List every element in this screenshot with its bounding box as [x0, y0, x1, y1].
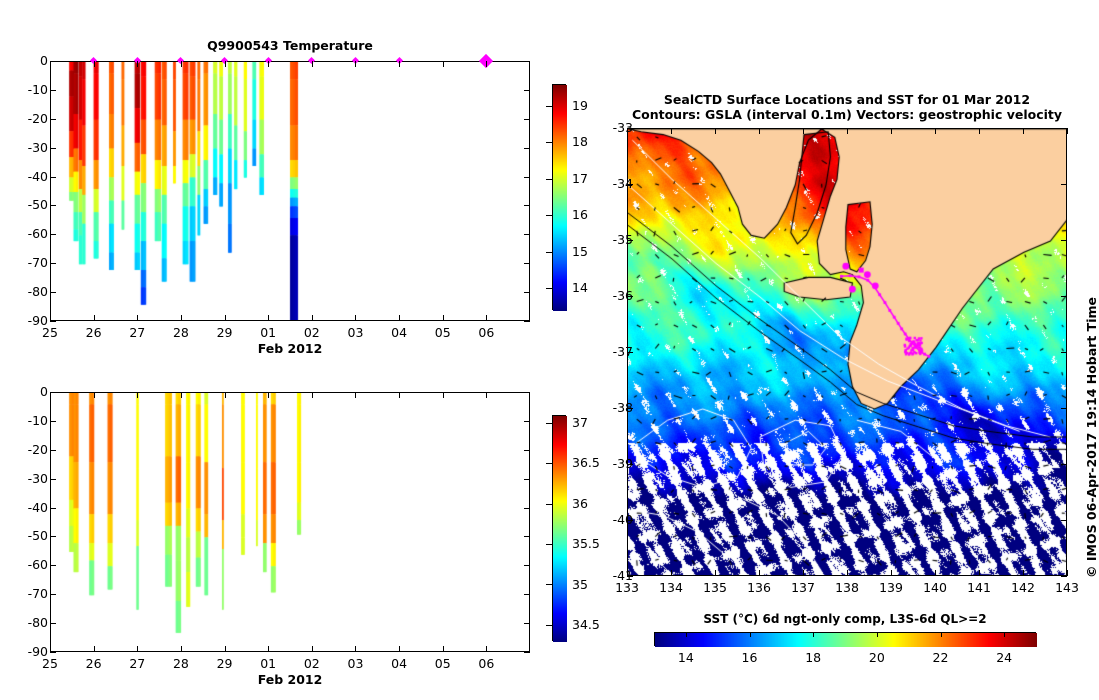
axis-tick-mark [877, 632, 878, 637]
axis-tick-mark [50, 450, 56, 451]
temperature-plot-frame [50, 61, 530, 321]
axis-tick-label: -80 [8, 284, 48, 299]
map-title-line1: SealCTD Surface Locations and SST for 01… [627, 92, 1067, 107]
axis-tick-label: -80 [8, 615, 48, 630]
axis-tick-mark [50, 205, 56, 206]
axis-tick-label: 25 [30, 325, 70, 340]
axis-tick-label: 26 [74, 325, 114, 340]
axis-tick-mark [225, 646, 226, 652]
axis-tick-label: 0 [8, 53, 48, 68]
axis-tick-label: 02 [292, 325, 332, 340]
axis-tick-label: 37 [572, 415, 612, 430]
axis-tick-mark [225, 315, 226, 321]
axis-tick-mark [486, 61, 487, 67]
axis-tick-label: 03 [335, 656, 375, 671]
axis-tick-label: -20 [8, 111, 48, 126]
axis-tick-mark [443, 315, 444, 321]
axis-tick-mark [715, 570, 716, 576]
axis-tick-mark [225, 61, 226, 67]
axis-tick-mark [399, 392, 400, 398]
axis-tick-label: 29 [205, 325, 245, 340]
axis-tick-mark [546, 463, 552, 464]
sst-colorbar-label: SST (°C) 6d ngt-only comp, L3S-6d QL>=2 [645, 612, 1045, 626]
axis-tick-label: 27 [117, 656, 157, 671]
axis-tick-label: -10 [8, 413, 48, 428]
axis-tick-mark [891, 570, 892, 576]
axis-tick-label: 143 [1047, 580, 1087, 595]
axis-tick-mark [50, 623, 56, 624]
temperature-colorbar [552, 84, 566, 310]
axis-tick-label: -20 [8, 442, 48, 457]
axis-tick-label: 04 [379, 656, 419, 671]
axis-tick-mark [1067, 128, 1068, 134]
axis-tick-label: 142 [1003, 580, 1043, 595]
axis-tick-mark [50, 392, 51, 398]
axis-tick-label: 141 [959, 580, 999, 595]
axis-tick-label: 16 [730, 650, 770, 665]
axis-tick-mark [813, 632, 814, 637]
axis-tick-label: 139 [871, 580, 911, 595]
axis-tick-label: 137 [783, 580, 823, 595]
axis-tick-label: -50 [8, 197, 48, 212]
axis-tick-mark [94, 646, 95, 652]
axis-tick-mark [312, 61, 313, 67]
axis-tick-mark [524, 148, 530, 149]
axis-tick-mark [268, 392, 269, 398]
axis-tick-mark [486, 392, 487, 398]
axis-tick-mark [546, 215, 552, 216]
axis-tick-mark [524, 565, 530, 566]
axis-tick-mark [546, 106, 552, 107]
axis-tick-mark [50, 292, 56, 293]
axis-tick-label: -10 [8, 82, 48, 97]
axis-tick-mark [671, 570, 672, 576]
axis-tick-mark [627, 576, 633, 577]
axis-tick-mark [524, 623, 530, 624]
axis-tick-mark [627, 296, 633, 297]
axis-tick-label: 138 [827, 580, 867, 595]
axis-tick-label: 140 [915, 580, 955, 595]
axis-tick-mark [1023, 570, 1024, 576]
axis-tick-label: 29 [205, 656, 245, 671]
axis-tick-mark [759, 570, 760, 576]
axis-tick-mark [627, 240, 633, 241]
axis-tick-mark [627, 128, 628, 134]
axis-tick-label: -60 [8, 226, 48, 241]
axis-tick-label: -60 [8, 557, 48, 572]
axis-tick-label: 14 [666, 650, 706, 665]
axis-tick-mark [979, 570, 980, 576]
axis-tick-mark [524, 263, 530, 264]
axis-tick-label: 19 [572, 98, 612, 113]
axis-tick-mark [50, 119, 56, 120]
axis-tick-mark [399, 646, 400, 652]
axis-tick-label: 24 [984, 650, 1024, 665]
axis-tick-mark [50, 565, 56, 566]
axis-tick-mark [524, 421, 530, 422]
temperature-x-label: Feb 2012 [50, 341, 530, 356]
axis-tick-label: -30 [8, 471, 48, 486]
axis-tick-label: 02 [292, 656, 332, 671]
axis-tick-label: -70 [8, 586, 48, 601]
axis-tick-mark [94, 61, 95, 67]
axis-tick-mark [546, 252, 552, 253]
axis-tick-mark [546, 544, 552, 545]
axis-tick-mark [268, 61, 269, 67]
axis-tick-mark [546, 142, 552, 143]
axis-tick-label: 03 [335, 325, 375, 340]
axis-tick-mark [935, 570, 936, 576]
axis-tick-mark [759, 128, 760, 134]
axis-tick-label: 01 [248, 656, 288, 671]
axis-tick-mark [546, 288, 552, 289]
axis-tick-label: 28 [161, 325, 201, 340]
axis-tick-mark [715, 128, 716, 134]
salinity-plot-frame [50, 392, 530, 652]
axis-tick-mark [1023, 128, 1024, 134]
axis-tick-label: 25 [30, 656, 70, 671]
axis-tick-mark [137, 646, 138, 652]
axis-tick-mark [524, 392, 530, 393]
axis-tick-mark [50, 177, 56, 178]
axis-tick-mark [546, 423, 552, 424]
axis-tick-mark [627, 184, 633, 185]
axis-tick-label: -40 [8, 169, 48, 184]
axis-tick-mark [524, 90, 530, 91]
salinity-colorbar [552, 415, 566, 641]
axis-tick-mark [268, 646, 269, 652]
axis-tick-mark [524, 536, 530, 537]
axis-tick-mark [443, 392, 444, 398]
axis-tick-mark [1061, 240, 1067, 241]
axis-tick-label: 135 [695, 580, 735, 595]
axis-tick-mark [50, 315, 51, 321]
axis-tick-mark [546, 504, 552, 505]
axis-tick-label: 27 [117, 325, 157, 340]
axis-tick-mark [750, 632, 751, 637]
axis-tick-mark [355, 392, 356, 398]
axis-tick-mark [443, 646, 444, 652]
axis-tick-mark [671, 128, 672, 134]
axis-tick-mark [399, 61, 400, 67]
axis-tick-label: 28 [161, 656, 201, 671]
axis-tick-mark [627, 570, 628, 576]
axis-tick-label: 133 [607, 580, 647, 595]
axis-tick-label: -30 [8, 140, 48, 155]
salinity-x-label: Feb 2012 [50, 672, 530, 687]
axis-tick-mark [94, 315, 95, 321]
axis-tick-mark [443, 61, 444, 67]
axis-tick-mark [1061, 408, 1067, 409]
axis-tick-mark [627, 520, 633, 521]
axis-tick-mark [50, 61, 51, 67]
temperature-panel-title: Q9900543 Temperature [50, 38, 530, 53]
axis-tick-label: 20 [857, 650, 897, 665]
axis-tick-label: -50 [8, 528, 48, 543]
axis-tick-mark [1061, 352, 1067, 353]
axis-tick-mark [399, 315, 400, 321]
axis-tick-mark [524, 508, 530, 509]
axis-tick-label: 136 [739, 580, 779, 595]
axis-tick-mark [546, 179, 552, 180]
axis-tick-mark [1061, 296, 1067, 297]
axis-tick-mark [546, 625, 552, 626]
axis-tick-mark [268, 315, 269, 321]
axis-tick-label: 18 [793, 650, 833, 665]
axis-tick-mark [50, 652, 56, 653]
axis-tick-label: 34.5 [572, 617, 612, 632]
axis-tick-mark [627, 352, 633, 353]
axis-tick-mark [891, 128, 892, 134]
axis-tick-mark [50, 536, 56, 537]
axis-tick-mark [524, 177, 530, 178]
axis-tick-label: 04 [379, 325, 419, 340]
axis-tick-mark [524, 61, 530, 62]
axis-tick-mark [1067, 570, 1068, 576]
axis-tick-mark [312, 315, 313, 321]
axis-tick-mark [355, 646, 356, 652]
axis-tick-label: 06 [466, 325, 506, 340]
axis-tick-mark [137, 315, 138, 321]
axis-tick-mark [979, 128, 980, 134]
axis-tick-mark [181, 61, 182, 67]
axis-tick-mark [355, 61, 356, 67]
axis-tick-label: 01 [248, 325, 288, 340]
imos-credit: © IMOS 06-Apr-2017 19:14 Hobart Time [1084, 297, 1099, 578]
axis-tick-mark [935, 128, 936, 134]
axis-tick-label: 134 [651, 580, 691, 595]
axis-tick-label: 0 [8, 384, 48, 399]
axis-tick-label: 36 [572, 496, 612, 511]
axis-tick-mark [847, 570, 848, 576]
axis-tick-mark [181, 392, 182, 398]
axis-tick-mark [50, 263, 56, 264]
axis-tick-mark [94, 392, 95, 398]
axis-tick-label: -40 [8, 500, 48, 515]
axis-tick-mark [524, 292, 530, 293]
axis-tick-label: 18 [572, 134, 612, 149]
axis-tick-mark [803, 570, 804, 576]
axis-tick-label: -70 [8, 255, 48, 270]
axis-tick-mark [50, 479, 56, 480]
axis-tick-mark [50, 646, 51, 652]
axis-tick-mark [137, 61, 138, 67]
axis-tick-mark [627, 464, 633, 465]
axis-tick-mark [546, 584, 552, 585]
axis-tick-mark [686, 632, 687, 637]
axis-tick-mark [225, 392, 226, 398]
axis-tick-mark [181, 646, 182, 652]
axis-tick-mark [803, 128, 804, 134]
axis-tick-label: 05 [423, 325, 463, 340]
axis-tick-mark [1061, 576, 1067, 577]
axis-tick-mark [1061, 464, 1067, 465]
axis-tick-mark [486, 315, 487, 321]
axis-tick-mark [524, 450, 530, 451]
axis-tick-mark [1061, 184, 1067, 185]
axis-tick-mark [486, 646, 487, 652]
axis-tick-mark [1061, 520, 1067, 521]
axis-tick-mark [50, 90, 56, 91]
axis-tick-mark [524, 479, 530, 480]
axis-tick-mark [524, 119, 530, 120]
axis-tick-label: 35.5 [572, 536, 612, 551]
axis-tick-label: 06 [466, 656, 506, 671]
map-title-line2: Contours: GSLA (interval 0.1m) Vectors: … [617, 107, 1077, 122]
axis-tick-label: 26 [74, 656, 114, 671]
axis-tick-mark [627, 408, 633, 409]
axis-tick-mark [50, 148, 56, 149]
axis-tick-mark [312, 392, 313, 398]
axis-tick-mark [50, 421, 56, 422]
axis-tick-mark [355, 315, 356, 321]
axis-tick-mark [50, 508, 56, 509]
axis-tick-mark [524, 321, 530, 322]
axis-tick-mark [941, 632, 942, 637]
sst-map-frame [627, 128, 1067, 576]
axis-tick-mark [137, 392, 138, 398]
axis-tick-mark [524, 652, 530, 653]
axis-tick-mark [312, 646, 313, 652]
axis-tick-mark [524, 205, 530, 206]
axis-tick-mark [50, 594, 56, 595]
axis-tick-mark [1004, 632, 1005, 637]
axis-tick-mark [524, 594, 530, 595]
axis-tick-mark [524, 234, 530, 235]
axis-tick-mark [181, 315, 182, 321]
axis-tick-mark [50, 321, 56, 322]
axis-tick-label: 22 [921, 650, 961, 665]
sst-colorbar [654, 632, 1036, 646]
axis-tick-label: 16 [572, 207, 612, 222]
axis-tick-label: 05 [423, 656, 463, 671]
axis-tick-mark [50, 234, 56, 235]
axis-tick-mark [847, 128, 848, 134]
